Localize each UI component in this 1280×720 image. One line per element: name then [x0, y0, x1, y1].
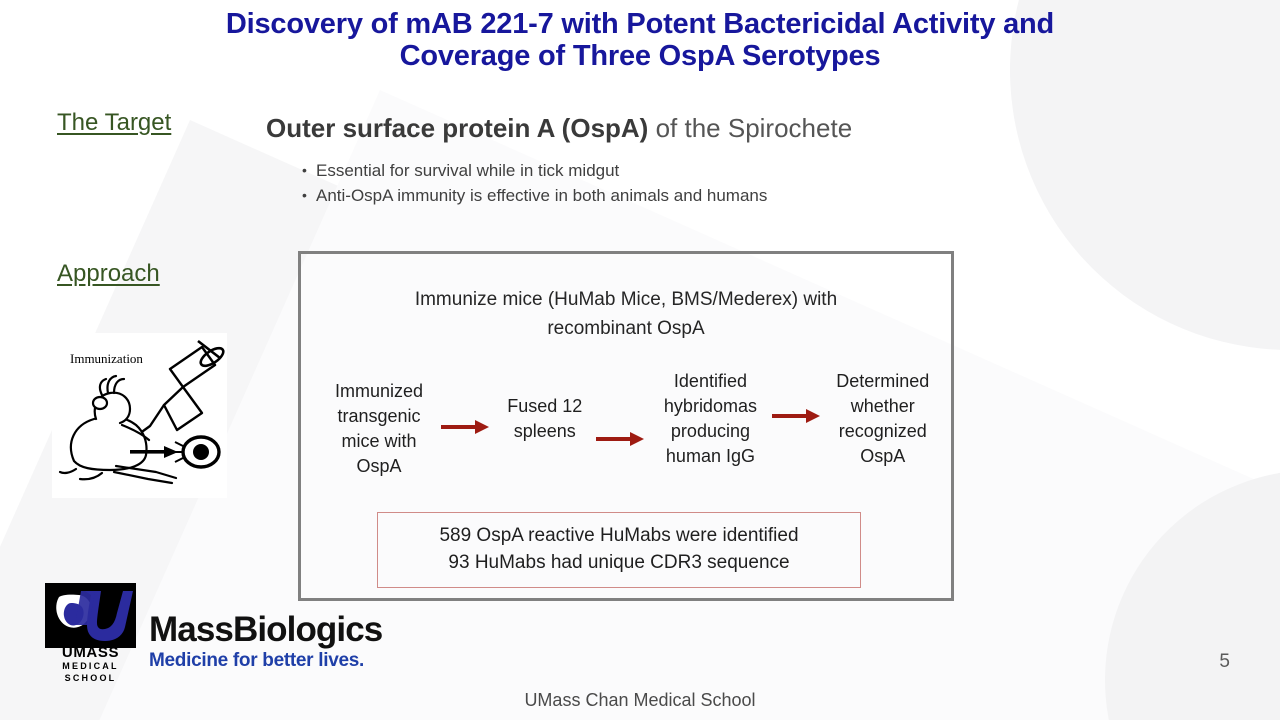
result-callout-box: 589 OspA reactive HuMabs were identified… — [377, 512, 861, 588]
arrow-right-icon — [594, 432, 650, 446]
workflow-flow-row: Immunized transgenic mice with OspA Fuse… — [319, 369, 939, 479]
flow-step-3: Identified hybridomas producing human Ig… — [650, 369, 770, 469]
slide-canvas: Discovery of mAB 221-7 with Potent Bacte… — [0, 0, 1280, 720]
immunization-illustration: Immunization — [52, 333, 227, 498]
approach-box-title: Immunize mice (HuMab Mice, BMS/Mederex) … — [301, 285, 951, 343]
umass-wordmark-line-2: MEDICAL — [45, 660, 136, 672]
target-heading-light: of the Spirochete — [648, 113, 852, 143]
section-label-approach: Approach — [57, 260, 160, 288]
slide-title-line-2: Coverage of Three OspA Serotypes — [90, 40, 1190, 72]
massbiologics-name: MassBiologics — [149, 612, 382, 648]
umass-logo-icon — [45, 583, 136, 648]
flow-step-4: Determined whether recognized OspA — [826, 369, 939, 469]
slide-title: Discovery of mAB 221-7 with Potent Bacte… — [90, 8, 1190, 72]
arrow-right-icon — [770, 409, 826, 423]
slide-footer: UMass Chan Medical School — [0, 690, 1280, 711]
list-item: Anti-OspA immunity is effective in both … — [300, 183, 860, 208]
umass-wordmark: UMASS MEDICAL SCHOOL — [45, 646, 136, 684]
approach-box-title-line-1: Immunize mice (HuMab Mice, BMS/Mederex) … — [301, 285, 951, 314]
immunization-caption-text: Immunization — [70, 351, 143, 366]
flow-step-1: Immunized transgenic mice with OspA — [319, 379, 439, 479]
result-line-1: 589 OspA reactive HuMabs were identified — [388, 522, 850, 549]
approach-diagram-box: Immunize mice (HuMab Mice, BMS/Mederex) … — [298, 251, 954, 601]
massbiologics-tagline: Medicine for better lives. — [149, 650, 382, 672]
slide-title-line-1: Discovery of mAB 221-7 with Potent Bacte… — [90, 8, 1190, 40]
approach-box-title-line-2: recombinant OspA — [301, 314, 951, 343]
umass-wordmark-line-3: SCHOOL — [45, 672, 136, 684]
massbiologics-text-block: MassBiologics Medicine for better lives. — [149, 612, 382, 676]
arrow-right-icon — [439, 420, 495, 434]
target-bullet-list: Essential for survival while in tick mid… — [300, 158, 860, 208]
target-heading-strong: Outer surface protein A (OspA) — [266, 113, 648, 143]
list-item: Essential for survival while in tick mid… — [300, 158, 860, 183]
page-number: 5 — [1219, 651, 1230, 673]
umass-medical-school-mark: UMASS MEDICAL SCHOOL — [45, 583, 136, 676]
massbiologics-logo: UMASS MEDICAL SCHOOL MassBiologics Medic… — [45, 583, 382, 676]
section-label-the-target: The Target — [57, 109, 171, 137]
flow-step-2: Fused 12 spleens — [495, 394, 594, 444]
target-heading: Outer surface protein A (OspA) of the Sp… — [266, 113, 852, 144]
umass-wordmark-line-1: UMASS — [45, 646, 136, 660]
result-line-2: 93 HuMabs had unique CDR3 sequence — [388, 549, 850, 576]
watermark-blob-bottom-right — [1050, 415, 1280, 720]
